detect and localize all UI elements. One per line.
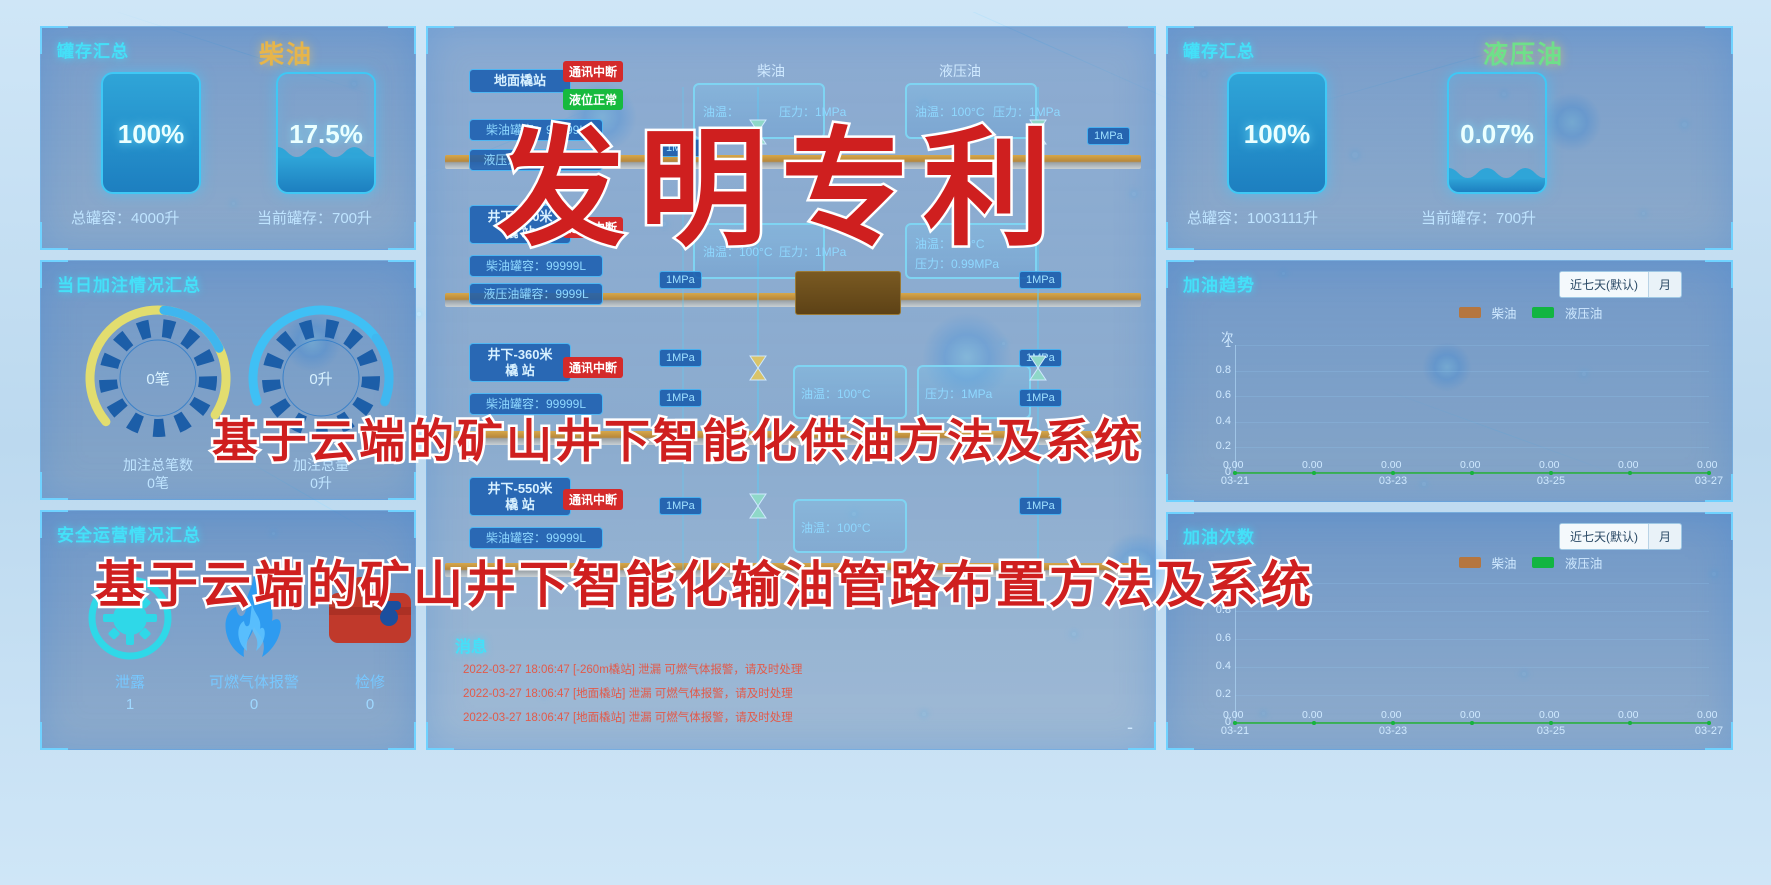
chart-point-label: 0.00	[1381, 459, 1401, 471]
pressure-tag: 1MPa	[659, 271, 702, 289]
toggle-option-month[interactable]: 月	[1648, 524, 1681, 549]
column-title-hydraulic: 液压油	[939, 61, 981, 81]
station-name-minus360[interactable]: 井下-360米 橇 站	[469, 343, 571, 382]
panel-right-stock-hydraulic: 罐存汇总 液压油 100% 总罐容：1003111升 0.07% 当前罐存：70…	[1166, 26, 1733, 250]
tank-current-caption: 当前罐存：700升	[1421, 207, 1536, 228]
legend-swatch-diesel	[1459, 307, 1481, 318]
chart-point-label: 0.00	[1381, 709, 1401, 721]
gauge-label-line1: 加注总笔数	[93, 457, 223, 475]
legend-swatch-diesel	[1459, 557, 1481, 568]
chart-point-label: 0.00	[1302, 459, 1322, 471]
legend-swatch-hydraulic	[1532, 307, 1554, 318]
watermark-line-2: 基于云端的矿山井下智能化供油方法及系统	[212, 405, 1143, 471]
panel-right-refuel-trend: 加油趋势 近七天(默认) 月 柴油 液压油 次 00.20.40.60.81	[1166, 260, 1733, 502]
station-label-line2: 橇 站	[505, 497, 535, 512]
tank-current-stock: 17.5%	[276, 72, 376, 194]
station-name-minus550[interactable]: 井下-550米 橇 站	[469, 477, 571, 516]
toggle-option-month[interactable]: 月	[1648, 272, 1681, 297]
gauge-label-line2: 0笔	[93, 475, 223, 493]
legend-item-hydraulic: 液压油	[1532, 553, 1602, 572]
safety-value-leak: 1	[95, 696, 165, 713]
screenshot-root: 罐存汇总 柴油 100% 总罐容：4000升 17.5% 当前罐存：700升 当…	[0, 0, 1771, 885]
column-title-diesel: 柴油	[757, 61, 785, 81]
status-badge-comm-interrupt: 通讯中断	[563, 61, 623, 82]
vessel-readout-temp: 油温：100°C	[801, 519, 871, 536]
messages-title: 消息	[455, 633, 487, 657]
chart-point-label: 0.00	[1539, 459, 1559, 471]
chart-point-label: 0.00	[1539, 709, 1559, 721]
chart-xtick: 03-25	[1531, 475, 1571, 487]
chart-legend-count: 柴油 液压油	[1459, 553, 1602, 572]
tank-current-stock: 0.07%	[1447, 72, 1547, 194]
tank-total-caption: 总罐容：1003111升	[1187, 207, 1318, 228]
station-tank-hydraulic: 液压油罐容：9999L	[469, 283, 603, 305]
chart-xtick: 03-27	[1689, 725, 1729, 737]
panel-title: 罐存汇总	[1183, 37, 1255, 62]
tank-total-caption: 总罐容：4000升	[71, 207, 179, 228]
chart-point-label: 0.00	[1302, 709, 1322, 721]
legend-label-hydraulic: 液压油	[1565, 557, 1603, 571]
legend-item-diesel: 柴油	[1459, 553, 1516, 572]
chart-point-label: 0.00	[1697, 709, 1717, 721]
gauge-value: 0笔	[83, 303, 233, 453]
chart-point-label: 0.00	[1223, 709, 1243, 721]
legend-label-diesel: 柴油	[1491, 557, 1516, 571]
chart-legend-trend: 柴油 液压油	[1459, 303, 1602, 322]
chart-point-label: 0.00	[1618, 709, 1638, 721]
pressure-tag: 1MPa	[659, 349, 702, 367]
message-row: 2022-03-27 18:06:47 [地面橇站] 泄漏 可燃气体报警，请及时…	[463, 685, 793, 701]
status-badge-comm-interrupt: 通讯中断	[563, 489, 623, 510]
chart-point-label: 0.00	[1460, 459, 1480, 471]
gauge-total-count-label: 加注总笔数 0笔	[93, 457, 223, 492]
tank-total-capacity: 100%	[101, 72, 201, 194]
pressure-tag: 1MPa	[1087, 127, 1130, 145]
tank-percent-label: 100%	[103, 119, 199, 150]
chart-point-label: 0.00	[1618, 459, 1638, 471]
chart-xtick: 03-21	[1215, 725, 1255, 737]
chart-series-液压油	[1205, 345, 1715, 473]
safety-value-gas-alarm: 0	[199, 696, 309, 713]
fuel-type-label: 柴油	[259, 35, 313, 71]
chart-xtick: 03-23	[1373, 725, 1413, 737]
safety-label-leak: 泄露	[95, 671, 165, 692]
chart-xtick: 03-23	[1373, 475, 1413, 487]
chart-point-label: 0.00	[1697, 459, 1717, 471]
legend-label-diesel: 柴油	[1491, 307, 1516, 321]
message-row: 2022-03-27 18:06:47 [地面橇站] 泄漏 可燃气体报警，请及时…	[463, 709, 793, 725]
valve-icon	[749, 355, 767, 381]
toggle-option-seven-days[interactable]: 近七天(默认)	[1560, 272, 1648, 297]
legend-label-hydraulic: 液压油	[1565, 307, 1603, 321]
chart-xtick: 03-25	[1531, 725, 1571, 737]
range-toggle-trend[interactable]: 近七天(默认) 月	[1559, 271, 1682, 298]
range-toggle-count[interactable]: 近七天(默认) 月	[1559, 523, 1682, 550]
watermark-title: 发明专利	[497, 85, 1065, 270]
panel-title: 当日加注情况汇总	[57, 271, 201, 296]
panel-title: 安全运营情况汇总	[57, 521, 201, 546]
status-badge-comm-interrupt: 通讯中断	[563, 357, 623, 378]
tank-total-capacity: 100%	[1227, 72, 1327, 194]
valve-icon	[749, 493, 767, 519]
legend-item-hydraulic: 液压油	[1532, 303, 1602, 322]
zoom-out-button[interactable]: -	[1127, 717, 1133, 738]
chart-xaxis-trend: 03-2103-2303-2503-27	[1205, 475, 1715, 493]
panel-left-stock-diesel: 罐存汇总 柴油 100% 总罐容：4000升 17.5% 当前罐存：700升	[40, 26, 416, 250]
chart-point-label: 0.00	[1223, 459, 1243, 471]
safety-label-maintenance: 检修	[335, 671, 405, 692]
tank-percent-label: 17.5%	[278, 119, 374, 150]
chart-xtick: 03-21	[1215, 475, 1255, 487]
toggle-option-seven-days[interactable]: 近七天(默认)	[1560, 524, 1648, 549]
message-row: 2022-03-27 18:06:47 [-260m橇站] 泄漏 可燃气体报警，…	[463, 661, 802, 677]
pressure-tag: 1MPa	[1019, 497, 1062, 515]
tank-current-caption: 当前罐存：700升	[257, 207, 372, 228]
pressure-tag: 1MPa	[659, 497, 702, 515]
chart-plot-trend: 00.20.40.60.81 0.000.000.000.000.000.000…	[1205, 345, 1715, 473]
safety-value-maintenance: 0	[335, 696, 405, 713]
safety-label-gas-alarm: 可燃气体报警	[199, 671, 309, 692]
oil-level-indicator	[795, 271, 901, 315]
station-label-line1: 井下-360米	[487, 347, 552, 362]
station-label-line2: 橇 站	[505, 363, 535, 378]
chart-xtick: 03-27	[1689, 475, 1729, 487]
gauge-total-count: 0笔	[83, 303, 233, 453]
legend-item-diesel: 柴油	[1459, 303, 1516, 322]
panel-title: 罐存汇总	[57, 37, 129, 62]
chart-xaxis-count: 03-2103-2303-2503-27	[1205, 725, 1715, 743]
legend-swatch-hydraulic	[1532, 557, 1554, 568]
station-label-line1: 井下-550米	[487, 481, 552, 496]
vessel-readout-pressure: 压力：1MPa	[925, 385, 992, 402]
tank-percent-label: 0.07%	[1449, 119, 1545, 150]
tank-percent-label: 100%	[1229, 119, 1325, 150]
gauge-label-line2: 0升	[256, 475, 386, 493]
fuel-type-label: 液压油	[1483, 35, 1564, 71]
chart-point-label: 0.00	[1460, 709, 1480, 721]
pressure-tag: 1MPa	[1019, 271, 1062, 289]
watermark-line-3: 基于云端的矿山井下智能化输油管路布置方法及系统	[95, 545, 1314, 617]
panel-title: 加油趋势	[1183, 271, 1255, 296]
vessel-readout-temp: 油温：100°C	[801, 385, 871, 402]
valve-icon	[1029, 355, 1047, 381]
